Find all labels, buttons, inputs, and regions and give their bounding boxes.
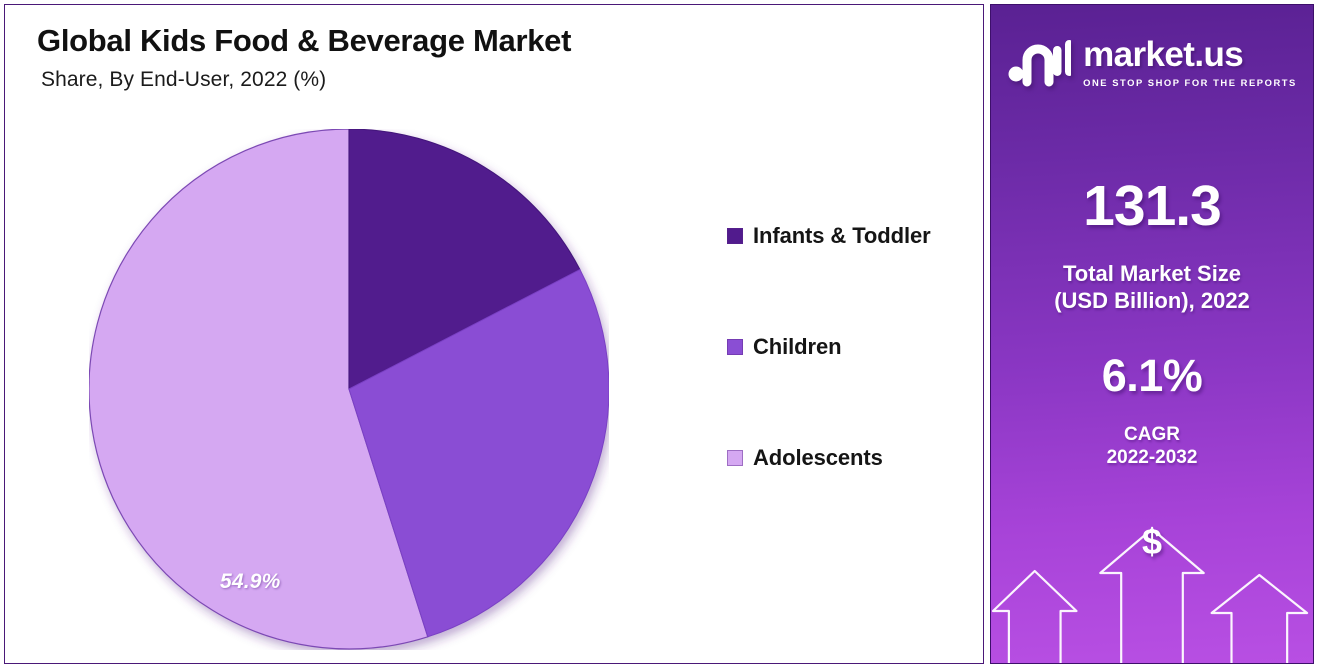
- market-size-caption-line1: Total Market Size: [991, 261, 1313, 288]
- brand-text-block: market.us ONE STOP SHOP FOR THE REPORTS: [1083, 37, 1297, 88]
- cagr-caption: CAGR 2022-2032: [991, 423, 1313, 469]
- chart-panel: Global Kids Food & Beverage Market Share…: [4, 4, 984, 664]
- brand-logo[interactable]: market.us ONE STOP SHOP FOR THE REPORTS: [991, 35, 1313, 88]
- pie-chart: 54.9%: [89, 129, 609, 650]
- page-subtitle: Share, By End-User, 2022 (%): [41, 68, 817, 92]
- pie-data-label-adolescents: 54.9%: [220, 570, 281, 594]
- legend-item-children[interactable]: Children: [727, 330, 977, 364]
- infographic-root: Global Kids Food & Beverage Market Share…: [0, 0, 1318, 668]
- chart-legend: Infants & Toddler Children Adolescents: [727, 219, 977, 475]
- growth-arrows-icon: [991, 473, 1313, 663]
- market-size-value: 131.3: [991, 173, 1313, 239]
- summary-panel: market.us ONE STOP SHOP FOR THE REPORTS …: [990, 4, 1314, 664]
- cagr-caption-line1: CAGR: [991, 423, 1313, 446]
- title-block: Global Kids Food & Beverage Market Share…: [37, 23, 817, 92]
- legend-swatch-icon: [727, 450, 743, 466]
- legend-label: Children: [753, 334, 841, 360]
- market-us-bars-icon: [1007, 36, 1071, 88]
- cagr-caption-line2: 2022-2032: [991, 446, 1313, 469]
- legend-item-infants-and-toddler[interactable]: Infants & Toddler: [727, 219, 977, 253]
- page-title: Global Kids Food & Beverage Market: [37, 23, 817, 59]
- cagr-value: 6.1%: [991, 350, 1313, 402]
- legend-swatch-icon: [727, 339, 743, 355]
- pie-chart-svg: [89, 129, 609, 650]
- legend-label: Adolescents: [753, 445, 883, 471]
- market-size-caption: Total Market Size (USD Billion), 2022: [991, 261, 1313, 315]
- legend-item-adolescents[interactable]: Adolescents: [727, 441, 977, 475]
- market-size-caption-line2: (USD Billion), 2022: [991, 288, 1313, 315]
- brand-tagline: ONE STOP SHOP FOR THE REPORTS: [1083, 77, 1297, 88]
- legend-swatch-icon: [727, 228, 743, 244]
- brand-name: market.us: [1083, 37, 1297, 72]
- legend-label: Infants & Toddler: [753, 223, 931, 249]
